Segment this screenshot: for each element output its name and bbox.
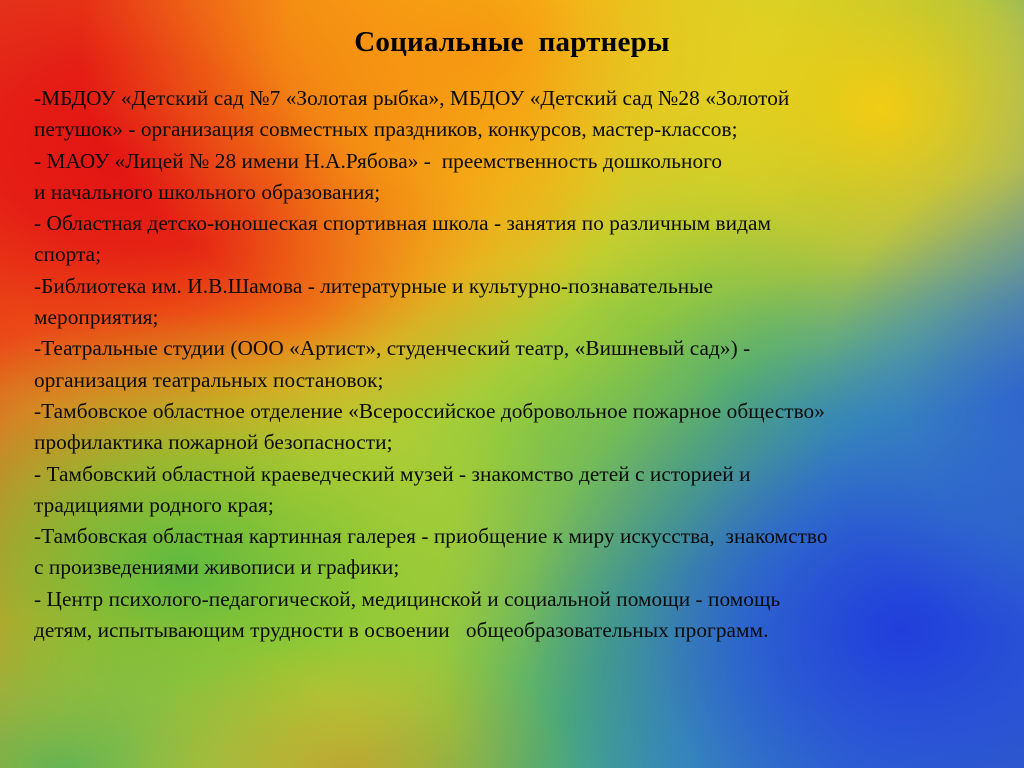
partners-list: -МБДОУ «Детский сад №7 «Золотая рыбка», …	[34, 83, 996, 646]
presentation-slide: Социальные партнеры -МБДОУ «Детский сад …	[0, 0, 1024, 768]
partners-list-line: с произведениями живописи и графики;	[34, 552, 996, 583]
partners-list-line: организация театральных постановок;	[34, 365, 996, 396]
partners-list-line: - Областная детско-юношеская спортивная …	[34, 208, 996, 239]
slide-content: Социальные партнеры -МБДОУ «Детский сад …	[0, 0, 1024, 768]
partners-list-line: спорта;	[34, 239, 996, 270]
partners-list-line: и начального школьного образования;	[34, 177, 996, 208]
partners-list-line: детям, испытывающим трудности в освоении…	[34, 615, 996, 646]
partners-list-line: -Тамбовская областная картинная галерея …	[34, 521, 996, 552]
partners-list-line: - Центр психолого-педагогической, медици…	[34, 584, 996, 615]
slide-title: Социальные партнеры	[0, 26, 1024, 59]
partners-list-line: -Театральные студии (ООО «Артист», студе…	[34, 333, 996, 364]
partners-list-line: мероприятия;	[34, 302, 996, 333]
partners-list-line: - МАОУ «Лицей № 28 имени Н.А.Рябова» - п…	[34, 146, 996, 177]
partners-list-line: -МБДОУ «Детский сад №7 «Золотая рыбка», …	[34, 83, 996, 114]
partners-list-line: -Библиотека им. И.В.Шамова - литературны…	[34, 271, 996, 302]
partners-list-line: - Тамбовский областной краеведческий муз…	[34, 459, 996, 490]
partners-list-line: традициями родного края;	[34, 490, 996, 521]
partners-list-line: -Тамбовское областное отделение «Всеросс…	[34, 396, 996, 427]
partners-list-line: профилактика пожарной безопасности;	[34, 427, 996, 458]
partners-list-line: петушок» - организация совместных праздн…	[34, 114, 996, 145]
